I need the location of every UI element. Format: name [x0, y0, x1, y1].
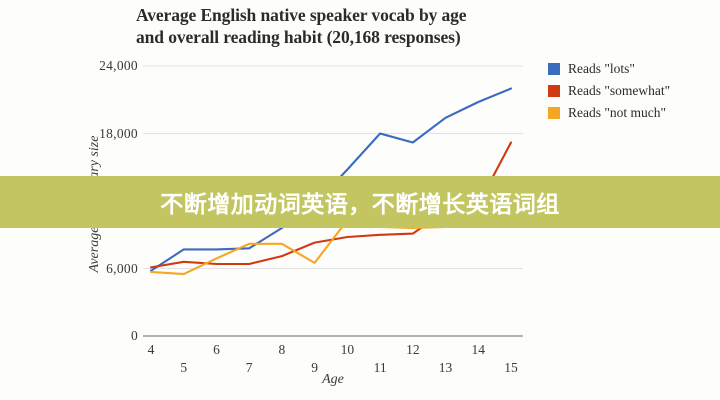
legend-item[interactable]: Reads "not much" — [548, 102, 716, 123]
legend-item[interactable]: Reads "lots" — [548, 58, 716, 79]
x-tick-label: 6 — [213, 342, 220, 358]
y-tick-label: 24,000 — [64, 58, 138, 74]
overlay-banner-text: 不断增加动词英语，不断增长英语词组 — [160, 185, 560, 219]
x-tick-label: 10 — [341, 342, 355, 358]
x-axis-title: Age — [143, 372, 523, 388]
legend-label: Reads "lots" — [568, 61, 635, 77]
legend-swatch-icon — [548, 63, 560, 75]
x-tick-label: 12 — [406, 342, 420, 358]
legend-swatch-icon — [548, 107, 560, 119]
x-tick-label: 8 — [279, 342, 286, 358]
legend-item[interactable]: Reads "somewhat" — [548, 80, 716, 101]
legend-label: Reads "somewhat" — [568, 83, 670, 99]
y-tick-label: 0 — [64, 328, 138, 344]
chart-legend: Reads "lots"Reads "somewhat"Reads "not m… — [548, 58, 716, 124]
y-tick-label: 6,000 — [64, 261, 138, 277]
x-tick-label: 4 — [148, 342, 155, 358]
legend-swatch-icon — [548, 85, 560, 97]
x-tick-label: 14 — [472, 342, 486, 358]
chart-title: Average English native speaker vocab by … — [136, 4, 556, 49]
legend-label: Reads "not much" — [568, 105, 666, 121]
overlay-banner: 不断增加动词英语，不断增长英语词组 — [0, 176, 720, 228]
y-tick-label: 18,000 — [64, 126, 138, 142]
